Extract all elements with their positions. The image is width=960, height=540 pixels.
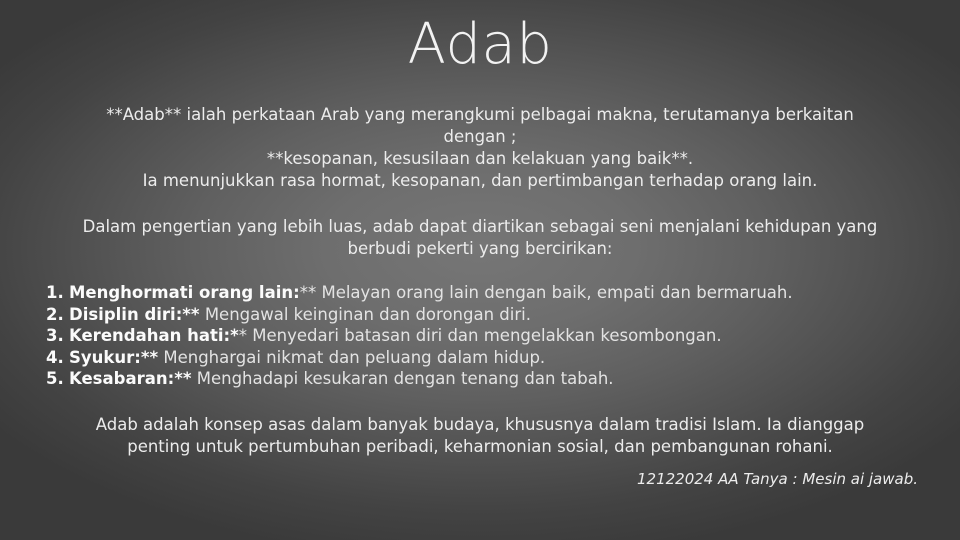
intro-line-4: Ia menunjukkan rasa hormat, kesopanan, d…: [143, 171, 818, 190]
list-item: 5. Kesabaran:** Menghadapi kesukaran den…: [42, 368, 918, 390]
list-item-term-tail: *: [239, 326, 247, 345]
list-item-term: Syukur:**: [69, 348, 158, 367]
characteristics-list: 1. Menghormati orang lain:** Melayan ora…: [42, 282, 918, 390]
list-item-description: Menghargai nikmat dan peluang dalam hidu…: [163, 348, 545, 367]
list-item-number: 1.: [46, 283, 64, 302]
broad-line-2: berbudi pekerti yang bercirikan:: [348, 239, 613, 258]
list-item-number: 3.: [46, 326, 64, 345]
footer-attribution: 12122024 AA Tanya : Mesin ai jawab.: [0, 470, 918, 488]
list-item: 2. Disiplin diri:** Mengawal keinginan d…: [42, 304, 918, 326]
close-line-2: penting untuk pertumbuhan peribadi, keha…: [127, 437, 833, 456]
paragraph-broad-meaning: Dalam pengertian yang lebih luas, adab d…: [42, 216, 918, 260]
broad-line-1: Dalam pengertian yang lebih luas, adab d…: [83, 217, 878, 236]
list-item-description: Menghadapi kesukaran dengan tenang dan t…: [197, 369, 614, 388]
list-item-description: Menyedari batasan diri dan mengelakkan k…: [252, 326, 721, 345]
page-title: Adab: [0, 12, 960, 78]
list-item-number: 2.: [46, 305, 64, 324]
list-item-term: Kesabaran:**: [69, 369, 191, 388]
list-item: 1. Menghormati orang lain:** Melayan ora…: [42, 282, 918, 304]
list-item-description: Mengawal keinginan dan dorongan diri.: [205, 305, 531, 324]
intro-line-2: dengan ;: [444, 127, 517, 146]
slide-body: **Adab** ialah perkataan Arab yang meran…: [42, 104, 918, 458]
list-item: 3. Kerendahan hati:** Menyedari batasan …: [42, 325, 918, 347]
list-item-number: 5.: [46, 369, 64, 388]
list-item-term: Disiplin diri:**: [69, 305, 200, 324]
slide-canvas: Adab **Adab** ialah perkataan Arab yang …: [0, 0, 960, 540]
paragraph-intro: **Adab** ialah perkataan Arab yang meran…: [42, 104, 918, 192]
close-line-1: Adab adalah konsep asas dalam banyak bud…: [96, 415, 864, 434]
list-item: 4. Syukur:** Menghargai nikmat dan pelua…: [42, 347, 918, 369]
list-item-number: 4.: [46, 348, 64, 367]
intro-line-3: **kesopanan, kesusilaan dan kelakuan yan…: [267, 149, 693, 168]
paragraph-conclusion: Adab adalah konsep asas dalam banyak bud…: [42, 414, 918, 458]
intro-line-1: **Adab** ialah perkataan Arab yang meran…: [106, 105, 854, 124]
list-item-term-tail: **: [300, 283, 317, 302]
list-item-term: Kerendahan hati:*: [69, 326, 239, 345]
list-item-description: Melayan orang lain dengan baik, empati d…: [321, 283, 792, 302]
list-item-term: Menghormati orang lain:: [69, 283, 300, 302]
